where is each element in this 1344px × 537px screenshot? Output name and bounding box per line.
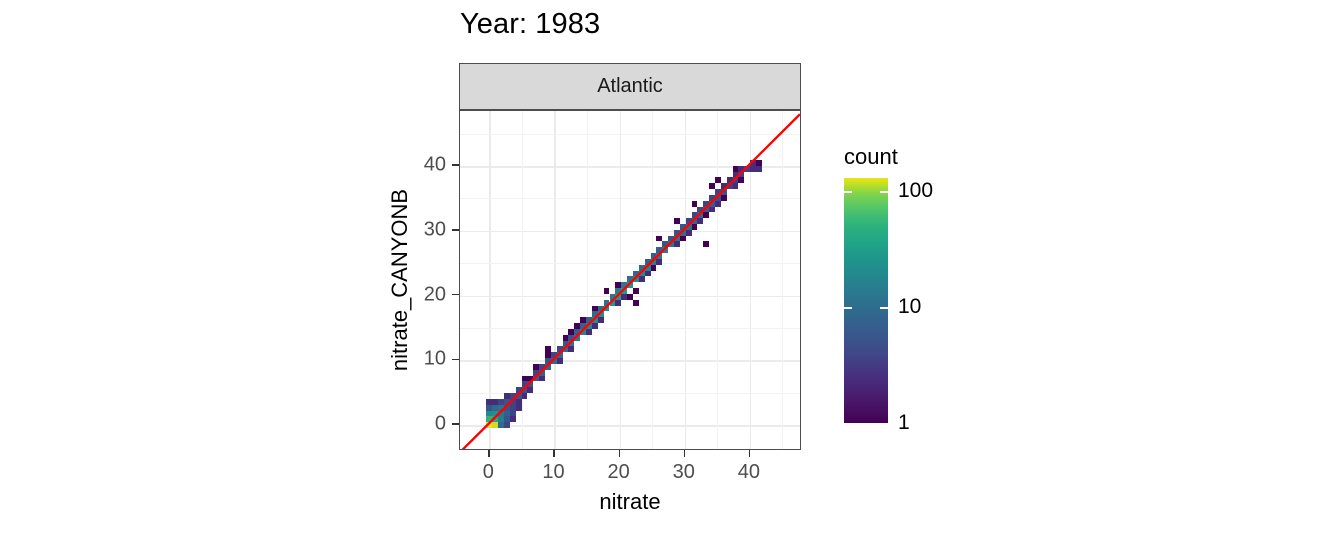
heatmap-bin xyxy=(633,300,639,306)
heatmap-bin xyxy=(651,265,657,271)
heatmap-bin xyxy=(662,247,668,253)
heatmap-bin xyxy=(492,399,498,405)
heatmap-bin xyxy=(574,335,580,341)
heatmap-bin xyxy=(486,399,492,405)
heatmap-bin xyxy=(674,241,680,247)
heatmap-bin xyxy=(656,259,662,265)
heatmap-bin xyxy=(633,288,639,294)
legend-tick-mark xyxy=(844,423,852,425)
heatmap-bin xyxy=(715,177,721,183)
heatmap-bin xyxy=(539,376,545,382)
legend-tick-mark xyxy=(880,191,888,193)
gridline-minor-v xyxy=(782,111,783,449)
gridline-minor-v xyxy=(717,111,718,449)
heatmap-bin xyxy=(756,160,762,166)
heatmap-bin xyxy=(680,236,686,242)
heatmap-bin xyxy=(527,376,533,382)
heatmap-bin xyxy=(656,236,662,242)
heatmap-bin xyxy=(545,346,551,352)
heatmap-bin xyxy=(545,364,551,370)
y-tick-label: 30 xyxy=(424,218,446,241)
y-axis-title: nitrate_CANYONB xyxy=(387,189,413,371)
x-tick-mark xyxy=(619,450,621,457)
y-tick-label: 0 xyxy=(435,413,446,436)
heatmap-bin xyxy=(615,282,621,288)
facet-strip-label: Atlantic xyxy=(597,75,663,98)
gridline-major-v xyxy=(620,111,622,449)
legend-tick-mark xyxy=(880,307,888,309)
x-tick-mark xyxy=(749,450,751,457)
heatmap-bin xyxy=(703,212,709,218)
gridline-minor-h xyxy=(460,198,800,199)
legend-tick-mark xyxy=(844,191,852,193)
x-axis-title: nitrate xyxy=(599,489,660,515)
gridline-major-v xyxy=(554,111,556,449)
heatmap-bin xyxy=(563,335,569,341)
heatmap-bin xyxy=(557,358,563,364)
legend-tick-label: 10 xyxy=(898,295,921,319)
y-tick-mark xyxy=(452,423,459,425)
heatmap-bin xyxy=(604,288,610,294)
heatmap-bin xyxy=(486,405,492,411)
x-tick-label: 0 xyxy=(483,461,494,484)
gridline-minor-v xyxy=(587,111,588,449)
heatmap-bin xyxy=(709,207,715,213)
legend-tick-mark xyxy=(880,423,888,425)
plot-panel xyxy=(459,110,801,450)
heatmap-bin xyxy=(510,416,516,422)
gridline-minor-h xyxy=(460,263,800,264)
gridline-minor-h xyxy=(460,134,800,135)
heatmap-bin xyxy=(504,422,510,428)
heatmap-bin xyxy=(756,166,762,172)
x-tick-label: 30 xyxy=(673,461,695,484)
legend-tick-mark xyxy=(844,307,852,309)
legend-title: count xyxy=(844,144,898,170)
heatmap-bin xyxy=(533,364,539,370)
heatmap-bin xyxy=(709,183,715,189)
heatmap-bin xyxy=(522,376,528,382)
heatmap-bin xyxy=(645,271,651,277)
y-tick-mark xyxy=(452,229,459,231)
x-tick-mark xyxy=(684,450,686,457)
y-tick-label: 10 xyxy=(424,348,446,371)
heatmap-bin xyxy=(715,201,721,207)
heatmap-bin xyxy=(686,230,692,236)
heatmap-bin xyxy=(586,329,592,335)
heatmap-bin xyxy=(527,387,533,393)
gridline-major-v xyxy=(685,111,687,449)
heatmap-bin xyxy=(615,300,621,306)
x-tick-label: 10 xyxy=(542,461,564,484)
heatmap-bin xyxy=(703,241,709,247)
y-tick-label: 20 xyxy=(424,283,446,306)
heatmap-bin xyxy=(592,306,598,312)
legend-tick-label: 100 xyxy=(898,179,933,203)
y-tick-mark xyxy=(452,359,459,361)
heatmap-bin xyxy=(692,224,698,230)
plot-figure: Year: 1983 Atlantic 010203040 403020100 … xyxy=(0,0,1344,537)
legend-colorbar xyxy=(844,178,888,423)
y-tick-label: 40 xyxy=(424,154,446,177)
heatmap-bin xyxy=(574,323,580,329)
x-tick-mark xyxy=(488,450,490,457)
x-tick-mark xyxy=(553,450,555,457)
heatmap-bin xyxy=(580,317,586,323)
y-tick-mark xyxy=(452,294,459,296)
page-title: Year: 1983 xyxy=(460,8,600,41)
heatmap-bin xyxy=(568,346,574,352)
heatmap-bin xyxy=(639,276,645,282)
heatmap-bin xyxy=(522,393,528,399)
heatmap-bin xyxy=(516,405,522,411)
heatmap-bin xyxy=(604,306,610,312)
heatmap-bin xyxy=(674,218,680,224)
y-tick-mark xyxy=(452,164,459,166)
heatmap-bin xyxy=(733,166,739,172)
facet-strip: Atlantic xyxy=(459,63,801,110)
heatmap-bin xyxy=(692,201,698,207)
x-tick-label: 20 xyxy=(607,461,629,484)
x-tick-label: 40 xyxy=(738,461,760,484)
heatmap-bin xyxy=(545,352,551,358)
gridline-minor-h xyxy=(460,328,800,329)
heatmap-bin xyxy=(733,183,739,189)
heatmap-bin xyxy=(697,218,703,224)
heatmap-bin xyxy=(721,195,727,201)
gridline-minor-v xyxy=(652,111,653,449)
heatmap-bin xyxy=(738,177,744,183)
legend-tick-label: 1 xyxy=(898,411,910,435)
heatmap-bin xyxy=(598,317,604,323)
heatmap-bin xyxy=(592,323,598,329)
heatmap-bin xyxy=(568,329,574,335)
